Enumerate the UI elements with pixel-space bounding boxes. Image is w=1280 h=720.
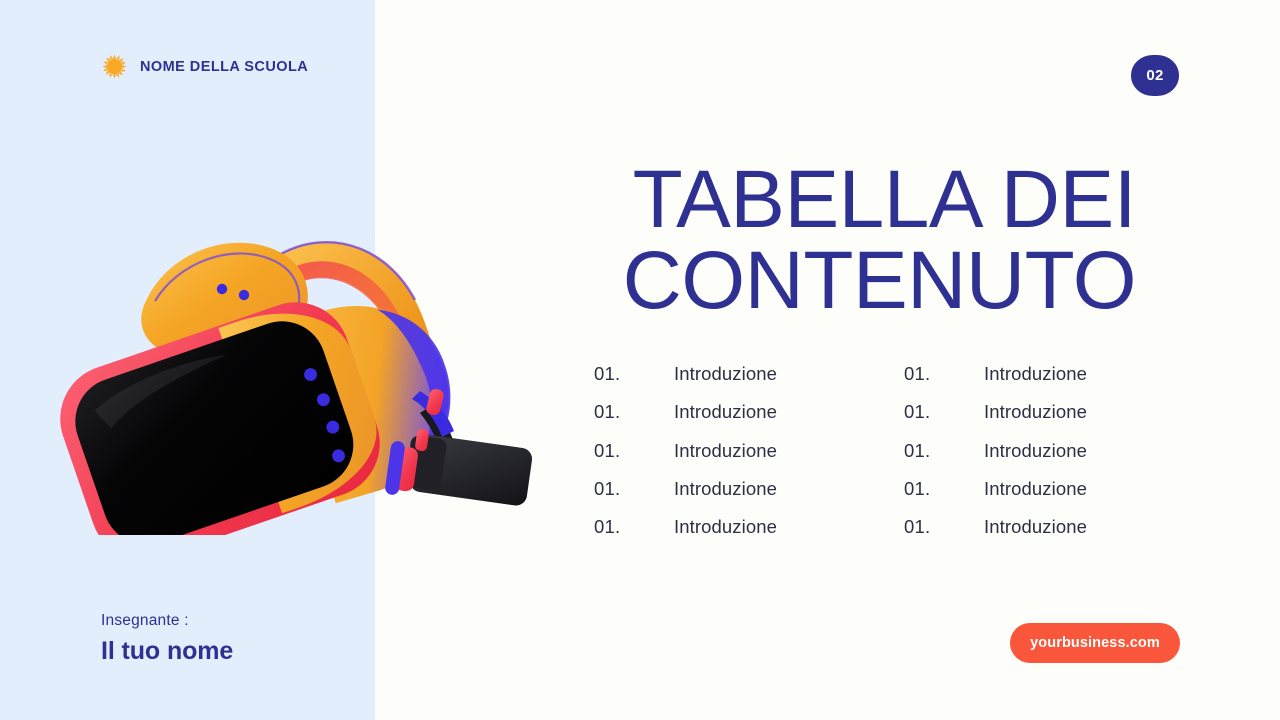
toc-item-label: Introduzione bbox=[674, 401, 777, 423]
list-item[interactable]: 01. Introduzione bbox=[904, 478, 1214, 516]
page-title-line-1: TABELLA DEI bbox=[416, 159, 1136, 240]
page-number-label: 02 bbox=[1146, 67, 1163, 84]
website-label: yourbusiness.com bbox=[1030, 635, 1160, 651]
toc-item-label: Introduzione bbox=[984, 516, 1087, 538]
list-item[interactable]: 01. Introduzione bbox=[594, 516, 904, 554]
list-item[interactable]: 01. Introduzione bbox=[904, 363, 1214, 401]
toc-item-label: Introduzione bbox=[984, 401, 1087, 423]
school-name-label: NOME DELLA SCUOLA bbox=[140, 59, 308, 75]
toc-item-number: 01. bbox=[594, 401, 674, 423]
page-number-badge: 02 bbox=[1131, 55, 1179, 96]
page-title: TABELLA DEI CONTENUTO bbox=[416, 159, 1136, 321]
list-item[interactable]: 01. Introduzione bbox=[904, 401, 1214, 439]
crown-indicator-dot-2 bbox=[239, 290, 249, 300]
toc-item-label: Introduzione bbox=[984, 478, 1087, 500]
teacher-name: Il tuo nome bbox=[101, 637, 233, 666]
toc-item-number: 01. bbox=[594, 440, 674, 462]
toc-column-2: 01. Introduzione 01. Introduzione 01. In… bbox=[904, 363, 1214, 554]
list-item[interactable]: 01. Introduzione bbox=[594, 401, 904, 439]
toc-item-label: Introduzione bbox=[984, 363, 1087, 385]
list-item[interactable]: 01. Introduzione bbox=[594, 363, 904, 401]
list-item[interactable]: 01. Introduzione bbox=[904, 440, 1214, 478]
crown-indicator-dot-1 bbox=[217, 284, 227, 294]
teacher-block: Insegnante : Il tuo nome bbox=[101, 612, 233, 666]
list-item[interactable]: 01. Introduzione bbox=[594, 478, 904, 516]
toc-item-number: 01. bbox=[594, 516, 674, 538]
slide-canvas: NOME DELLA SCUOLA 02 TABELLA DEI CONTENU… bbox=[0, 0, 1280, 720]
toc-item-number: 01. bbox=[904, 516, 984, 538]
toc-item-number: 01. bbox=[594, 478, 674, 500]
toc-item-number: 01. bbox=[594, 363, 674, 385]
sun-icon bbox=[101, 53, 128, 80]
page-title-line-2: CONTENUTO bbox=[416, 240, 1136, 321]
toc-column-1: 01. Introduzione 01. Introduzione 01. In… bbox=[594, 363, 904, 554]
website-button[interactable]: yourbusiness.com bbox=[1010, 623, 1180, 663]
toc-item-label: Introduzione bbox=[984, 440, 1087, 462]
list-item[interactable]: 01. Introduzione bbox=[904, 516, 1214, 554]
toc-item-number: 01. bbox=[904, 440, 984, 462]
toc-item-number: 01. bbox=[904, 401, 984, 423]
toc-item-label: Introduzione bbox=[674, 363, 777, 385]
teacher-label: Insegnante : bbox=[101, 612, 233, 630]
toc-item-number: 01. bbox=[904, 478, 984, 500]
table-of-contents: 01. Introduzione 01. Introduzione 01. In… bbox=[594, 363, 1214, 554]
list-item[interactable]: 01. Introduzione bbox=[594, 440, 904, 478]
school-logo[interactable]: NOME DELLA SCUOLA bbox=[101, 53, 308, 80]
toc-item-label: Introduzione bbox=[674, 440, 777, 462]
toc-item-number: 01. bbox=[904, 363, 984, 385]
toc-item-label: Introduzione bbox=[674, 516, 777, 538]
toc-item-label: Introduzione bbox=[674, 478, 777, 500]
